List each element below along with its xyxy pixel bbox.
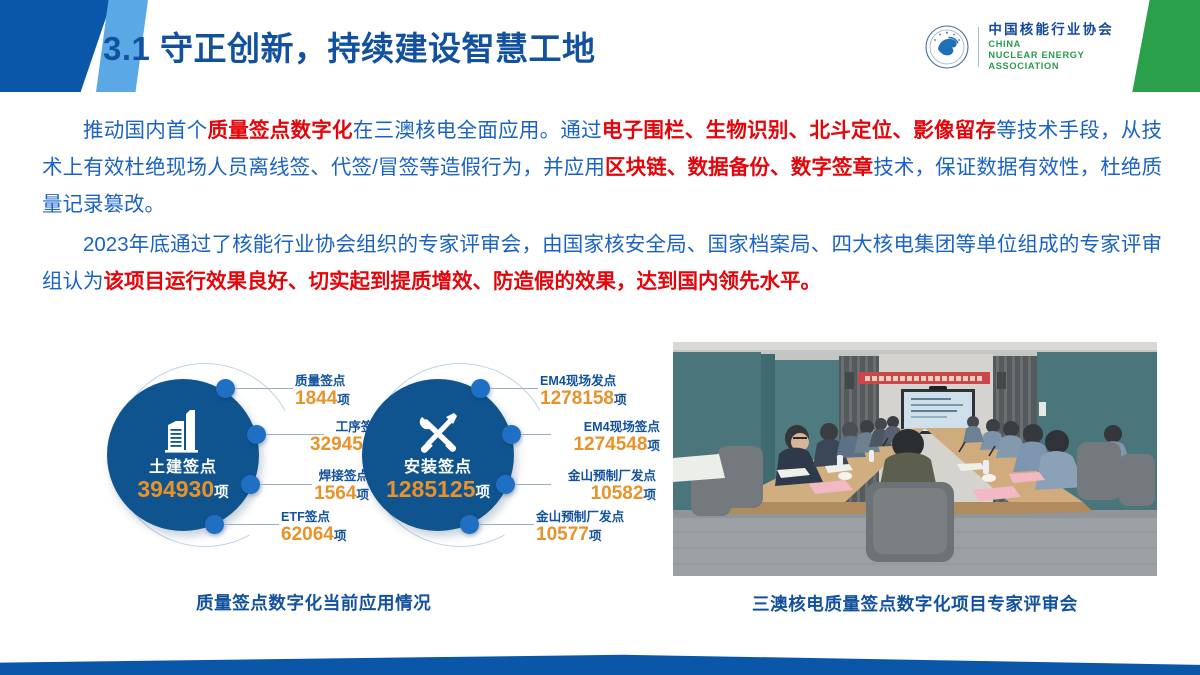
- logo-divider: [978, 27, 979, 67]
- group-center-value: 394930项: [137, 477, 228, 502]
- connector-node: [216, 379, 235, 398]
- stat-item: 金山预制厂发点 10582项: [456, 469, 656, 505]
- text-run: 推动国内首个: [83, 119, 208, 142]
- paragraph-1: 推动国内首个质量签点数字化在三澳核电全面应用。通过电子围栏、生物识别、北斗定位、…: [42, 112, 1162, 223]
- meeting-photo-image: [673, 342, 1157, 576]
- infographic-caption: 质量签点数字化当前应用情况: [196, 590, 431, 615]
- logo-chinese-name: 中国核能行业协会: [988, 22, 1114, 39]
- nuclear-swirl-emblem-icon: [925, 25, 969, 69]
- highlighted-text-run: 区块链、数据备份、数字签章: [605, 156, 873, 179]
- text-run: 在三澳核电全面应用。通过: [353, 119, 602, 142]
- header-dark-accent-shape: [0, 0, 112, 92]
- highlighted-text-run: 该项目运行效果良好、切实起到提质增效、防造假的效果，达到国内领先水平。: [104, 270, 822, 293]
- photo-caption: 三澳核电质量签点数字化项目专家评审会: [752, 591, 1078, 616]
- connector-node: [460, 515, 479, 534]
- logo-english-line-2: NUCLEAR ENERGY: [988, 50, 1114, 61]
- leader-line: [235, 388, 293, 389]
- leader-line: [490, 388, 538, 389]
- connector-node: [471, 379, 490, 398]
- logo-english-line-3: ASSOCIATION: [988, 61, 1114, 72]
- footer-accent-wedge: [0, 629, 1200, 675]
- header-green-accent-shape: [1128, 0, 1200, 92]
- paragraph-2: 2023年底通过了核能行业协会组织的专家评审会，由国家核安全局、国家档案局、四大…: [42, 226, 1162, 300]
- stat-item: ETF签点 62064项: [281, 510, 346, 546]
- stat-item: 质量签点 1844项: [295, 374, 350, 410]
- group-center-title: 土建签点: [149, 459, 217, 477]
- building-icon: [155, 408, 211, 458]
- page-title: 3.1 守正创新，持续建设智慧工地: [103, 22, 596, 70]
- body-text-block: 推动国内首个质量签点数字化在三澳核电全面应用。通过电子围栏、生物识别、北斗定位、…: [42, 112, 1162, 303]
- stat-item: EM4现场发点 1278158项: [540, 374, 627, 410]
- signoff-infographic: 土建签点 394930项 质量签点 1844项 工序签点 329458项 焊接签…: [60, 355, 660, 555]
- stat-item: 金山预制厂发点 10577项: [536, 510, 624, 546]
- group-center-disc: 土建签点 394930项: [107, 379, 259, 531]
- slide-header: 3.1 守正创新，持续建设智慧工地 中国核能行业协会 CHINA NUCLEAR…: [0, 0, 1200, 92]
- slide: 3.1 守正创新，持续建设智慧工地 中国核能行业协会 CHINA NUCLEAR…: [0, 0, 1200, 675]
- connector-node: [205, 515, 224, 534]
- highlighted-text-run: 电子围栏、生物识别、北斗定位、影像留存: [602, 119, 996, 142]
- stat-item: EM4现场签点 1274548项: [448, 420, 660, 456]
- leader-line: [224, 524, 279, 525]
- infographic-group-installation: 安装签点 1285125项 EM4现场发点 1278158项 EM4现场签点 1…: [360, 355, 660, 555]
- leader-line: [479, 524, 534, 525]
- meeting-photo: [673, 342, 1157, 576]
- highlighted-text-run: 质量签点数字化: [208, 119, 353, 142]
- stat-item: 焊接签点 1564项: [235, 469, 369, 505]
- logo-english-line-1: CHINA: [988, 39, 1114, 50]
- association-logo: 中国核能行业协会 CHINA NUCLEAR ENERGY ASSOCIATIO…: [925, 22, 1114, 73]
- logo-text-block: 中国核能行业协会 CHINA NUCLEAR ENERGY ASSOCIATIO…: [988, 22, 1114, 73]
